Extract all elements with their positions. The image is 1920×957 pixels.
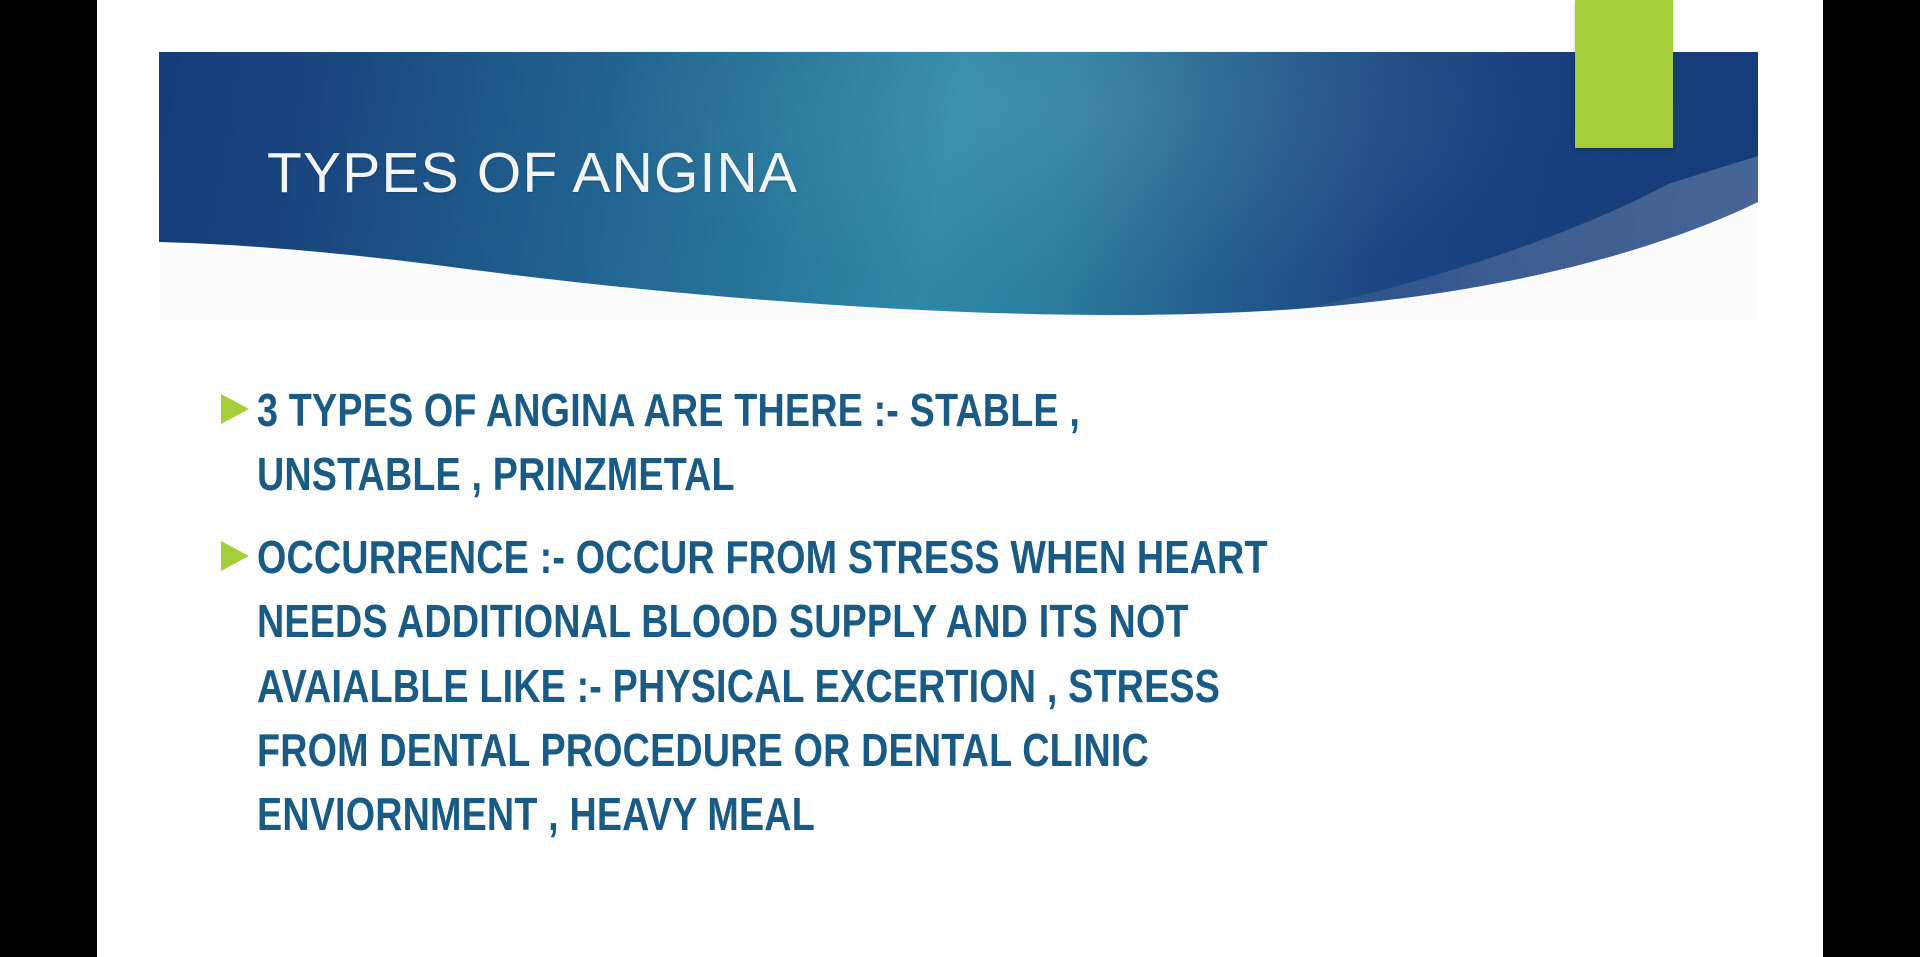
green-triangle-bullet-icon	[217, 378, 257, 426]
green-triangle-bullet-icon	[217, 525, 257, 573]
bullet-list-item: OCCURRENCE :- OCCUR FROM STRESS WHEN HEA…	[217, 525, 1507, 847]
letterbox-bar-left	[0, 0, 97, 957]
bullet-item-text: OCCURRENCE :- OCCUR FROM STRESS WHEN HEA…	[257, 525, 1282, 847]
bullet-list-item: 3 TYPES OF ANGINA ARE THERE :- STABLE , …	[217, 378, 1507, 507]
slide-body-content: 3 TYPES OF ANGINA ARE THERE :- STABLE , …	[217, 378, 1507, 865]
slide-title: TYPES OF ANGINA	[267, 140, 798, 206]
bullet-item-text: 3 TYPES OF ANGINA ARE THERE :- STABLE , …	[257, 378, 1282, 507]
letterbox-bar-right	[1823, 0, 1920, 957]
slide-canvas: TYPES OF ANGINA 3 TYPES OF ANGINA ARE TH…	[97, 0, 1823, 957]
slide-viewer: TYPES OF ANGINA 3 TYPES OF ANGINA ARE TH…	[0, 0, 1920, 957]
green-accent-rectangle	[1575, 0, 1673, 148]
